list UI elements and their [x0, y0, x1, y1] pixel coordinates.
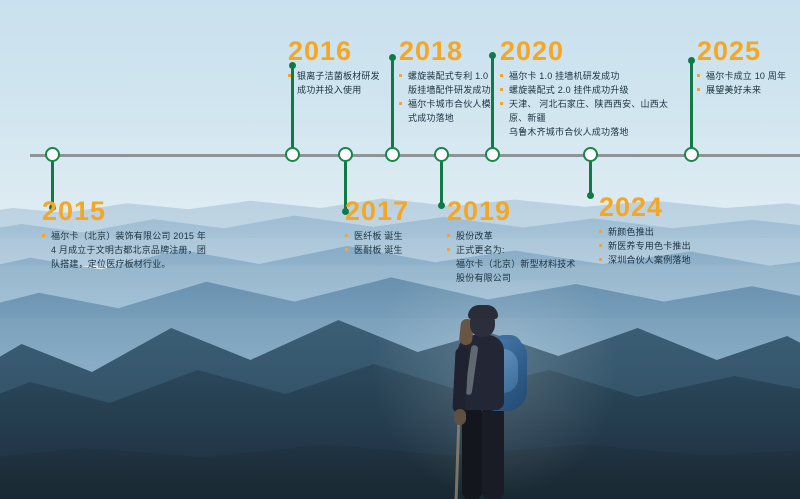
timeline-year-label-2017: 2017	[345, 196, 445, 226]
timeline-detail-line: 乌鲁木齐城市合伙人成功落地	[500, 125, 685, 139]
timeline-year-label-2024: 2024	[599, 192, 724, 222]
timeline-stem-dot-2025	[688, 57, 695, 64]
timeline-detail-line: 医纤板 诞生	[345, 229, 445, 243]
timeline-entry-2018: 2018螺旋装配式专利 1.0版挂墙配件研发成功福尔卡城市合伙人模式成功落地	[399, 36, 499, 125]
timeline-detail-line: 股份有限公司	[447, 271, 577, 285]
timeline-year-label-2018: 2018	[399, 36, 499, 66]
timeline-node-2018[interactable]	[385, 147, 400, 162]
timeline-stem-2025	[690, 60, 693, 155]
timeline-stem-dot-2024	[587, 192, 594, 199]
trekking-pole-icon	[454, 415, 460, 499]
timeline-detail-line: 正式更名为:	[447, 243, 577, 257]
hiker-cap	[468, 305, 498, 319]
timeline-detail-list-2024: 新颜色推出新医养专用色卡推出深圳合伙人案例落地	[599, 225, 724, 267]
timeline-detail-line: 福尔卡（北京）装饰有限公司 2015 年	[42, 229, 227, 243]
timeline-detail-line: 天津、 河北石家庄、陕西西安、山西太原、新疆	[500, 97, 685, 125]
timeline-entry-2017: 2017医纤板 诞生医耐板 诞生	[345, 196, 445, 257]
timeline-detail-line: 队搭建，定位医疗板材行业。	[42, 257, 227, 271]
timeline-detail-line: 新颜色推出	[599, 225, 724, 239]
timeline-node-2017[interactable]	[338, 147, 353, 162]
timeline-detail-line: 螺旋装配式 2.0 挂件成功升级	[500, 83, 685, 97]
timeline-detail-line: 深圳合伙人案例落地	[599, 253, 724, 267]
timeline-year-label-2025: 2025	[697, 36, 800, 66]
timeline-year-label-2016: 2016	[288, 36, 393, 66]
timeline-detail-line: 展望美好未来	[697, 83, 800, 97]
hiker-leg-right	[482, 405, 504, 499]
timeline-detail-line: 福尔卡（北京）新型材料技术	[447, 257, 577, 271]
timeline-entry-2024: 2024新颜色推出新医养专用色卡推出深圳合伙人案例落地	[599, 192, 724, 267]
timeline-node-2020[interactable]	[485, 147, 500, 162]
timeline-detail-line: 医耐板 诞生	[345, 243, 445, 257]
timeline-node-2019[interactable]	[434, 147, 449, 162]
timeline-detail-line: 银离子洁菌板材研发	[288, 69, 393, 83]
timeline-infographic: 2015福尔卡（北京）装饰有限公司 2015 年4 月成立于文明古都北京品牌注册…	[0, 0, 800, 499]
timeline-detail-list-2016: 银离子洁菌板材研发成功并投入使用	[288, 69, 393, 97]
timeline-node-2016[interactable]	[285, 147, 300, 162]
timeline-detail-list-2019: 股份改革正式更名为:福尔卡（北京）新型材料技术股份有限公司	[447, 229, 577, 285]
timeline-detail-line: 福尔卡 1.0 挂墙机研发成功	[500, 69, 685, 83]
timeline-detail-line: 福尔卡城市合伙人模	[399, 97, 499, 111]
timeline-detail-list-2018: 螺旋装配式专利 1.0版挂墙配件研发成功福尔卡城市合伙人模式成功落地	[399, 69, 499, 125]
timeline-node-2024[interactable]	[583, 147, 598, 162]
timeline-detail-line: 式成功落地	[399, 111, 499, 125]
timeline-entry-2020: 2020福尔卡 1.0 挂墙机研发成功螺旋装配式 2.0 挂件成功升级天津、 河…	[500, 36, 685, 139]
timeline-entry-2015: 2015福尔卡（北京）装饰有限公司 2015 年4 月成立于文明古都北京品牌注册…	[42, 196, 227, 271]
timeline-detail-list-2015: 福尔卡（北京）装饰有限公司 2015 年4 月成立于文明古都北京品牌注册，团队搭…	[42, 229, 227, 271]
hiker-hand	[454, 409, 466, 425]
timeline-entry-2019: 2019股份改革正式更名为:福尔卡（北京）新型材料技术股份有限公司	[447, 196, 577, 285]
timeline-year-label-2020: 2020	[500, 36, 685, 66]
timeline-detail-line: 版挂墙配件研发成功	[399, 83, 499, 97]
timeline-detail-line: 股份改革	[447, 229, 577, 243]
timeline-detail-list-2025: 福尔卡成立 10 周年展望美好未来	[697, 69, 800, 97]
hiker-figure	[432, 305, 547, 499]
timeline-entry-2025: 2025福尔卡成立 10 周年展望美好未来	[697, 36, 800, 97]
timeline-entry-2016: 2016银离子洁菌板材研发成功并投入使用	[288, 36, 393, 97]
timeline-detail-list-2020: 福尔卡 1.0 挂墙机研发成功螺旋装配式 2.0 挂件成功升级天津、 河北石家庄…	[500, 69, 685, 139]
timeline-node-2015[interactable]	[45, 147, 60, 162]
timeline-detail-line: 新医养专用色卡推出	[599, 239, 724, 253]
timeline-detail-list-2017: 医纤板 诞生医耐板 诞生	[345, 229, 445, 257]
timeline-year-label-2019: 2019	[447, 196, 577, 226]
timeline-node-2025[interactable]	[684, 147, 699, 162]
timeline-year-label-2015: 2015	[42, 196, 227, 226]
timeline-detail-line: 4 月成立于文明古都北京品牌注册，团	[42, 243, 227, 257]
timeline-detail-line: 福尔卡成立 10 周年	[697, 69, 800, 83]
timeline-detail-line: 成功并投入使用	[288, 83, 393, 97]
timeline-detail-line: 螺旋装配式专利 1.0	[399, 69, 499, 83]
